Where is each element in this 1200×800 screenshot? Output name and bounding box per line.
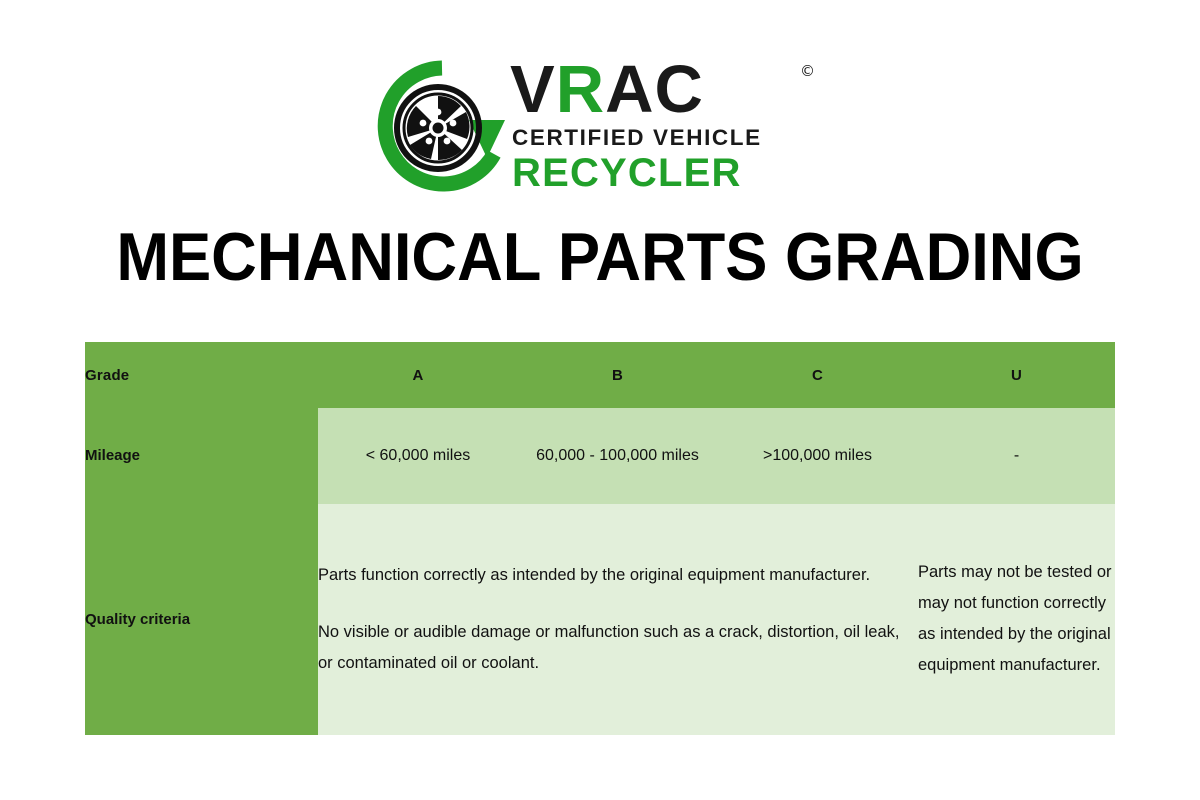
logo-letters-ac: AC (605, 52, 704, 127)
logo-letter-r: R (556, 52, 605, 127)
header-grade-c: C (717, 342, 918, 408)
mileage-grade-u: - (918, 408, 1115, 504)
brand-logo: VRAC © CERTIFIED VEHICLE RECYCLER (0, 52, 1200, 202)
table-row-mileage: Mileage < 60,000 miles 60,000 - 100,000 … (85, 408, 1115, 504)
copyright-icon: © (800, 64, 815, 79)
table-header-row: Grade A B C U (85, 342, 1115, 408)
logo-wordmark-recycler: RECYCLER (512, 151, 742, 196)
logo-tagline: CERTIFIED VEHICLE (512, 125, 762, 151)
page-title: MECHANICAL PARTS GRADING (42, 216, 1158, 298)
quality-criteria-grades-abc: Parts function correctly as intended by … (318, 504, 918, 735)
header-grade-b: B (518, 342, 717, 408)
logo-letter-v: V (510, 52, 556, 127)
mileage-grade-b: 60,000 - 100,000 miles (518, 408, 717, 504)
header-grade-a: A (318, 342, 518, 408)
quality-criteria-grade-u: Parts may not be tested or may not funct… (918, 504, 1115, 735)
row-label-mileage: Mileage (85, 408, 318, 504)
logo-wordmark-vrac: VRAC (510, 56, 704, 123)
mechanical-parts-grading-table: Grade A B C U Mileage < 60,000 miles 60,… (85, 342, 1115, 735)
mileage-grade-a: < 60,000 miles (318, 408, 518, 504)
mileage-grade-c: >100,000 miles (717, 408, 918, 504)
quality-paragraph-2: No visible or audible damage or malfunct… (318, 617, 918, 679)
table-row-quality-criteria: Quality criteria Parts function correctl… (85, 504, 1115, 735)
paragraph-spacer (318, 591, 918, 617)
header-grade: Grade (85, 342, 318, 408)
quality-paragraph-1: Parts function correctly as intended by … (318, 560, 918, 591)
header-grade-u: U (918, 342, 1115, 408)
row-label-quality-criteria: Quality criteria (85, 504, 318, 735)
recycling-wheel-icon (374, 58, 510, 194)
